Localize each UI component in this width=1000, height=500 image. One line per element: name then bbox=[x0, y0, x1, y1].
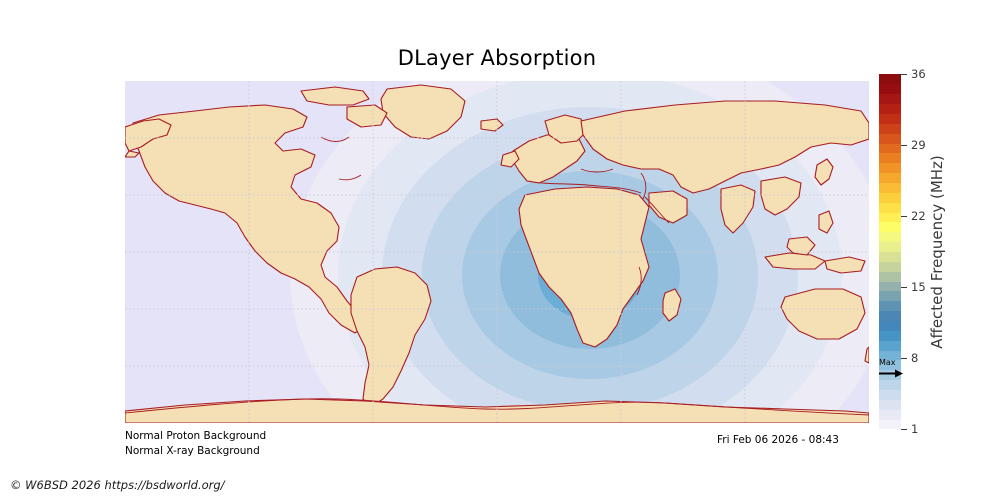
colorbar-tick-label: 1 bbox=[911, 422, 918, 436]
colorbar-band bbox=[879, 113, 901, 124]
colorbar-band bbox=[879, 74, 901, 85]
note-xray-background: Normal X-ray Background bbox=[125, 445, 260, 457]
page-title-text: DLayer Absorption bbox=[398, 46, 596, 70]
colorbar-max-marker: Max bbox=[879, 358, 905, 380]
colorbar-axis-label: Affected Frequency (MHz) bbox=[927, 74, 947, 429]
colorbar-band bbox=[879, 320, 901, 331]
colorbar-band bbox=[879, 133, 901, 144]
colorbar-band bbox=[879, 310, 901, 321]
colorbar-band bbox=[879, 182, 901, 193]
colorbar-band bbox=[879, 281, 901, 292]
colorbar-band bbox=[879, 202, 901, 213]
colorbar-tick-label: 36 bbox=[911, 67, 926, 81]
colorbar-tick-label: 29 bbox=[911, 138, 926, 152]
colorbar-band bbox=[879, 172, 901, 183]
colorbar-band bbox=[879, 221, 901, 232]
colorbar-axis-label-text: Affected Frequency (MHz) bbox=[928, 155, 946, 349]
colorbar-band bbox=[879, 379, 901, 390]
colorbar-band bbox=[879, 251, 901, 262]
colorbar-tick bbox=[901, 145, 907, 146]
colorbar-band bbox=[879, 340, 901, 351]
right-arrow-icon bbox=[879, 369, 903, 378]
colorbar-band bbox=[879, 143, 901, 154]
credit-line: © W6BSD 2026 https://bsdworld.org/ bbox=[10, 478, 225, 492]
colorbar-band bbox=[879, 261, 901, 272]
colorbar-band bbox=[879, 152, 901, 163]
colorbar-band bbox=[879, 103, 901, 114]
colorbar-tick bbox=[901, 287, 907, 288]
colorbar-tick bbox=[901, 74, 907, 75]
colorbar-tick-label: 15 bbox=[911, 280, 926, 294]
colorbar-band bbox=[879, 192, 901, 203]
colorbar-tick-label: 22 bbox=[911, 209, 926, 223]
colorbar-band bbox=[879, 83, 901, 94]
colorbar-tick bbox=[901, 429, 907, 430]
colorbar-band bbox=[879, 389, 901, 400]
colorbar-band bbox=[879, 300, 901, 311]
colorbar-band bbox=[879, 162, 901, 173]
colorbar-band bbox=[879, 231, 901, 242]
colorbar-band bbox=[879, 123, 901, 134]
colorbar-band bbox=[879, 241, 901, 252]
colorbar-band bbox=[879, 212, 901, 223]
colorbar-tick-label: 8 bbox=[911, 351, 918, 365]
colorbar-band bbox=[879, 271, 901, 282]
colorbar-band bbox=[879, 419, 901, 430]
colorbar-band bbox=[879, 399, 901, 410]
note-proton-background: Normal Proton Background bbox=[125, 430, 266, 442]
colorbar-band bbox=[879, 330, 901, 341]
timestamp: Fri Feb 06 2026 - 08:43 bbox=[717, 434, 839, 446]
page-title: DLayer Absorption bbox=[0, 46, 1000, 70]
colorbar-band bbox=[879, 93, 901, 104]
world-map-plot bbox=[125, 81, 869, 423]
colorbar-max-label: Max bbox=[879, 358, 896, 367]
colorbar-band bbox=[879, 290, 901, 301]
colorbar-band bbox=[879, 409, 901, 420]
map-canvas bbox=[125, 81, 869, 423]
colorbar-tick bbox=[901, 216, 907, 217]
